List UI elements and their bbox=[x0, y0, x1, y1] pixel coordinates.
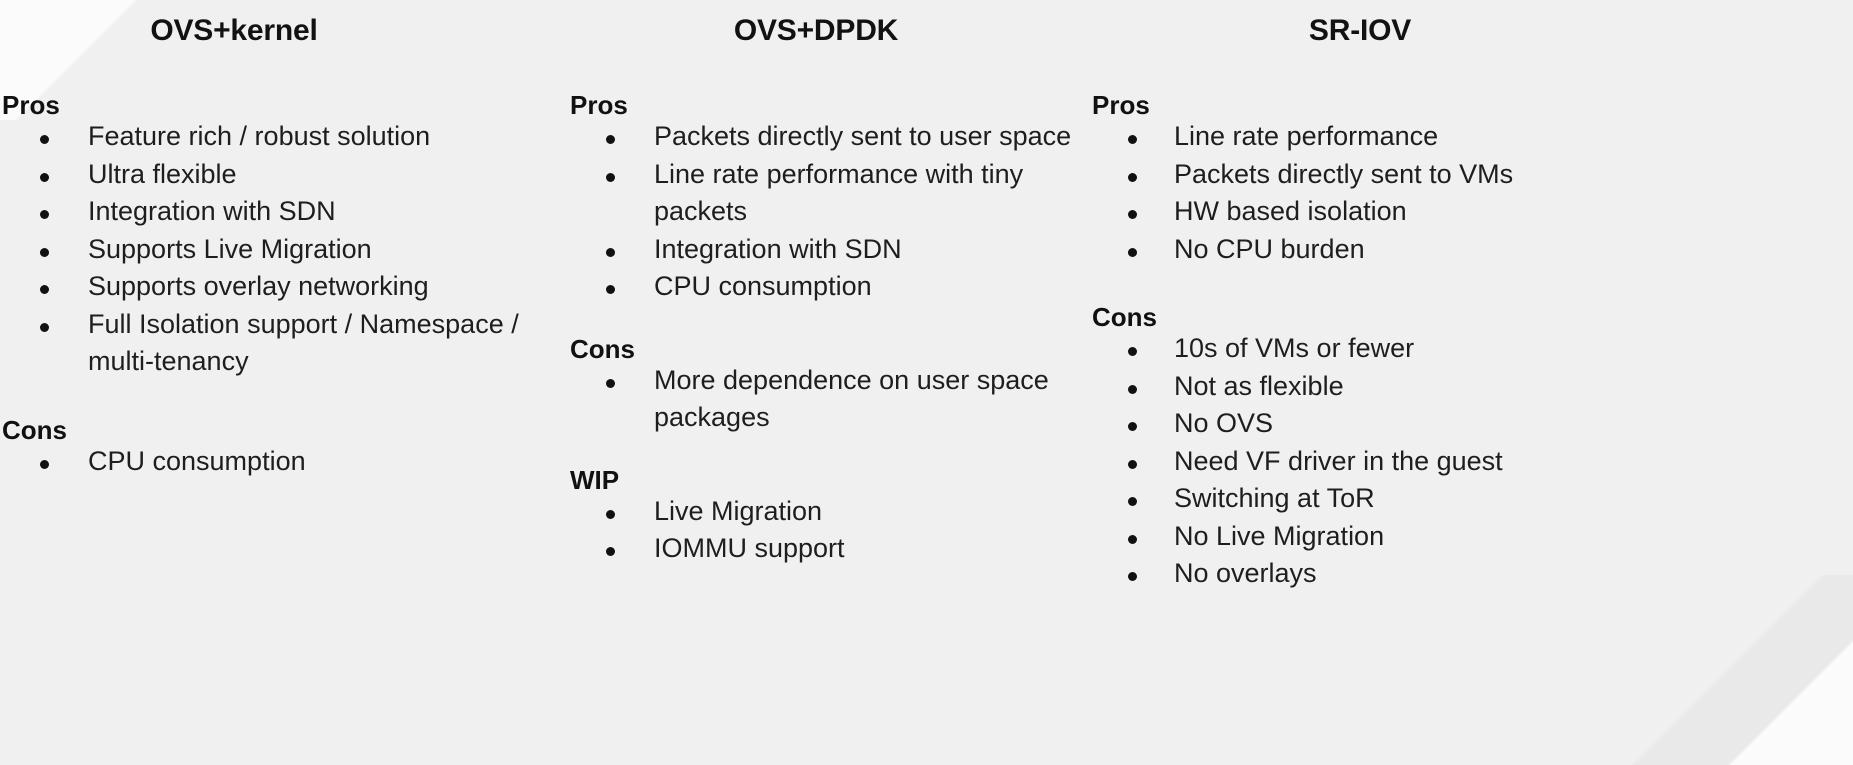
list-item-label: Live Migration bbox=[654, 496, 822, 526]
section-heading-cons: Cons bbox=[536, 336, 1090, 362]
section-heading-wip: WIP bbox=[536, 467, 1090, 493]
section-heading-cons: Cons bbox=[2, 417, 536, 443]
list-item: HW based isolation bbox=[1090, 193, 1853, 231]
list-item: 10s of VMs or fewer bbox=[1090, 330, 1853, 368]
list-item: Packets directly sent to user space bbox=[536, 118, 1090, 156]
section-wip: WIP Live Migration IOMMU support bbox=[536, 467, 1090, 568]
bullet-list-pros: Feature rich / robust solution Ultra fle… bbox=[2, 118, 536, 381]
bullet-icon bbox=[40, 173, 49, 182]
list-item: Line rate performance with tiny packets bbox=[536, 156, 1090, 231]
list-item: CPU consumption bbox=[536, 268, 1090, 306]
list-item: Line rate performance bbox=[1090, 118, 1853, 156]
list-item: Feature rich / robust solution bbox=[2, 118, 536, 156]
section-pros: Pros Feature rich / robust solution Ultr… bbox=[2, 60, 536, 381]
bullet-list-cons: CPU consumption bbox=[2, 443, 536, 481]
list-item: Switching at ToR bbox=[1090, 480, 1853, 518]
list-item-label: IOMMU support bbox=[654, 533, 845, 563]
bullet-icon bbox=[606, 248, 615, 257]
list-item: Supports overlay networking bbox=[2, 268, 536, 306]
section-cons: Cons 10s of VMs or fewer Not as flexible… bbox=[1090, 304, 1853, 593]
bullet-icon bbox=[1128, 460, 1137, 469]
list-item-label: No Live Migration bbox=[1174, 521, 1384, 551]
section-heading-pros: Pros bbox=[2, 92, 536, 118]
list-item-label: CPU consumption bbox=[88, 446, 306, 476]
bullet-list-wip: Live Migration IOMMU support bbox=[536, 493, 1090, 568]
list-item: Integration with SDN bbox=[2, 193, 536, 231]
bullet-icon bbox=[40, 285, 49, 294]
bullet-icon bbox=[1128, 535, 1137, 544]
list-item-label: More dependence on user space packages bbox=[654, 365, 1049, 433]
bullet-icon bbox=[40, 460, 49, 469]
list-item-label: Line rate performance bbox=[1174, 121, 1438, 151]
list-item-label: Need VF driver in the guest bbox=[1174, 446, 1503, 476]
list-item: No Live Migration bbox=[1090, 518, 1853, 556]
list-item-label: Integration with SDN bbox=[654, 234, 902, 264]
list-item-label: 10s of VMs or fewer bbox=[1174, 333, 1414, 363]
list-item-label: Switching at ToR bbox=[1174, 483, 1375, 513]
column-title-ovs-kernel: OVS+kernel bbox=[2, 0, 466, 60]
list-item-label: Supports Live Migration bbox=[88, 234, 372, 264]
section-pros: Pros Packets directly sent to user space… bbox=[536, 60, 1090, 306]
section-heading-cons: Cons bbox=[1090, 304, 1853, 330]
section-spacer bbox=[2, 381, 536, 417]
list-item-label: Integration with SDN bbox=[88, 196, 336, 226]
bullet-icon bbox=[1128, 347, 1137, 356]
column-title-ovs-dpdk: OVS+DPDK bbox=[566, 0, 1066, 60]
column-title-sr-iov: SR-IOV bbox=[1090, 0, 1630, 60]
section-spacer bbox=[536, 437, 1090, 467]
bullet-icon bbox=[40, 135, 49, 144]
list-item: Packets directly sent to VMs bbox=[1090, 156, 1853, 194]
list-item: Live Migration bbox=[536, 493, 1090, 531]
list-item-label: HW based isolation bbox=[1174, 196, 1407, 226]
section-heading-pros: Pros bbox=[536, 92, 1090, 118]
section-spacer bbox=[536, 306, 1090, 336]
bullet-icon bbox=[606, 379, 615, 388]
bullet-icon bbox=[40, 210, 49, 219]
comparison-slide: OVS+kernel Pros Feature rich / robust so… bbox=[0, 0, 1853, 765]
bullet-list-pros: Packets directly sent to user space Line… bbox=[536, 118, 1090, 306]
bullet-icon bbox=[1128, 497, 1137, 506]
list-item: Integration with SDN bbox=[536, 231, 1090, 269]
bullet-icon bbox=[1128, 385, 1137, 394]
list-item-label: Packets directly sent to VMs bbox=[1174, 159, 1513, 189]
bullet-icon bbox=[606, 173, 615, 182]
list-item: No CPU burden bbox=[1090, 231, 1853, 269]
list-item-label: Packets directly sent to user space bbox=[654, 121, 1071, 151]
bullet-icon bbox=[606, 285, 615, 294]
column-sr-iov: SR-IOV Pros Line rate performance Packet… bbox=[1090, 0, 1853, 765]
list-item-label: Line rate performance with tiny packets bbox=[654, 159, 1023, 227]
bullet-icon bbox=[1128, 248, 1137, 257]
section-pros: Pros Line rate performance Packets direc… bbox=[1090, 60, 1853, 268]
bullet-icon bbox=[1128, 173, 1137, 182]
bullet-icon bbox=[40, 248, 49, 257]
bullet-icon bbox=[606, 547, 615, 556]
section-spacer bbox=[1090, 268, 1853, 304]
bullet-icon bbox=[40, 323, 49, 332]
bullet-icon bbox=[606, 510, 615, 519]
list-item-label: Ultra flexible bbox=[88, 159, 237, 189]
list-item-label: No OVS bbox=[1174, 408, 1273, 438]
list-item-label: No overlays bbox=[1174, 558, 1317, 588]
bullet-icon bbox=[1128, 210, 1137, 219]
list-item: Supports Live Migration bbox=[2, 231, 536, 269]
bullet-icon bbox=[606, 135, 615, 144]
bullet-list-cons: More dependence on user space packages bbox=[536, 362, 1090, 437]
list-item: No OVS bbox=[1090, 405, 1853, 443]
section-heading-pros: Pros bbox=[1090, 92, 1853, 118]
list-item: IOMMU support bbox=[536, 530, 1090, 568]
list-item-label: No CPU burden bbox=[1174, 234, 1365, 264]
list-item: No overlays bbox=[1090, 555, 1853, 593]
list-item-label: Feature rich / robust solution bbox=[88, 121, 430, 151]
section-cons: Cons More dependence on user space packa… bbox=[536, 336, 1090, 437]
bullet-list-pros: Line rate performance Packets directly s… bbox=[1090, 118, 1853, 268]
list-item: CPU consumption bbox=[2, 443, 536, 481]
column-ovs-dpdk: OVS+DPDK Pros Packets directly sent to u… bbox=[536, 0, 1090, 765]
bullet-icon bbox=[1128, 135, 1137, 144]
bullet-list-cons: 10s of VMs or fewer Not as flexible No O… bbox=[1090, 330, 1853, 593]
list-item-label: Supports overlay networking bbox=[88, 271, 429, 301]
list-item: Not as flexible bbox=[1090, 368, 1853, 406]
section-cons: Cons CPU consumption bbox=[2, 417, 536, 481]
list-item: Full Isolation support / Namespace / mul… bbox=[2, 306, 536, 381]
bullet-icon bbox=[1128, 572, 1137, 581]
list-item: Ultra flexible bbox=[2, 156, 536, 194]
list-item: Need VF driver in the guest bbox=[1090, 443, 1853, 481]
list-item-label: Full Isolation support / Namespace / mul… bbox=[88, 309, 519, 377]
list-item: More dependence on user space packages bbox=[536, 362, 1090, 437]
list-item-label: Not as flexible bbox=[1174, 371, 1344, 401]
list-item-label: CPU consumption bbox=[654, 271, 872, 301]
bullet-icon bbox=[1128, 422, 1137, 431]
column-ovs-kernel: OVS+kernel Pros Feature rich / robust so… bbox=[0, 0, 536, 765]
